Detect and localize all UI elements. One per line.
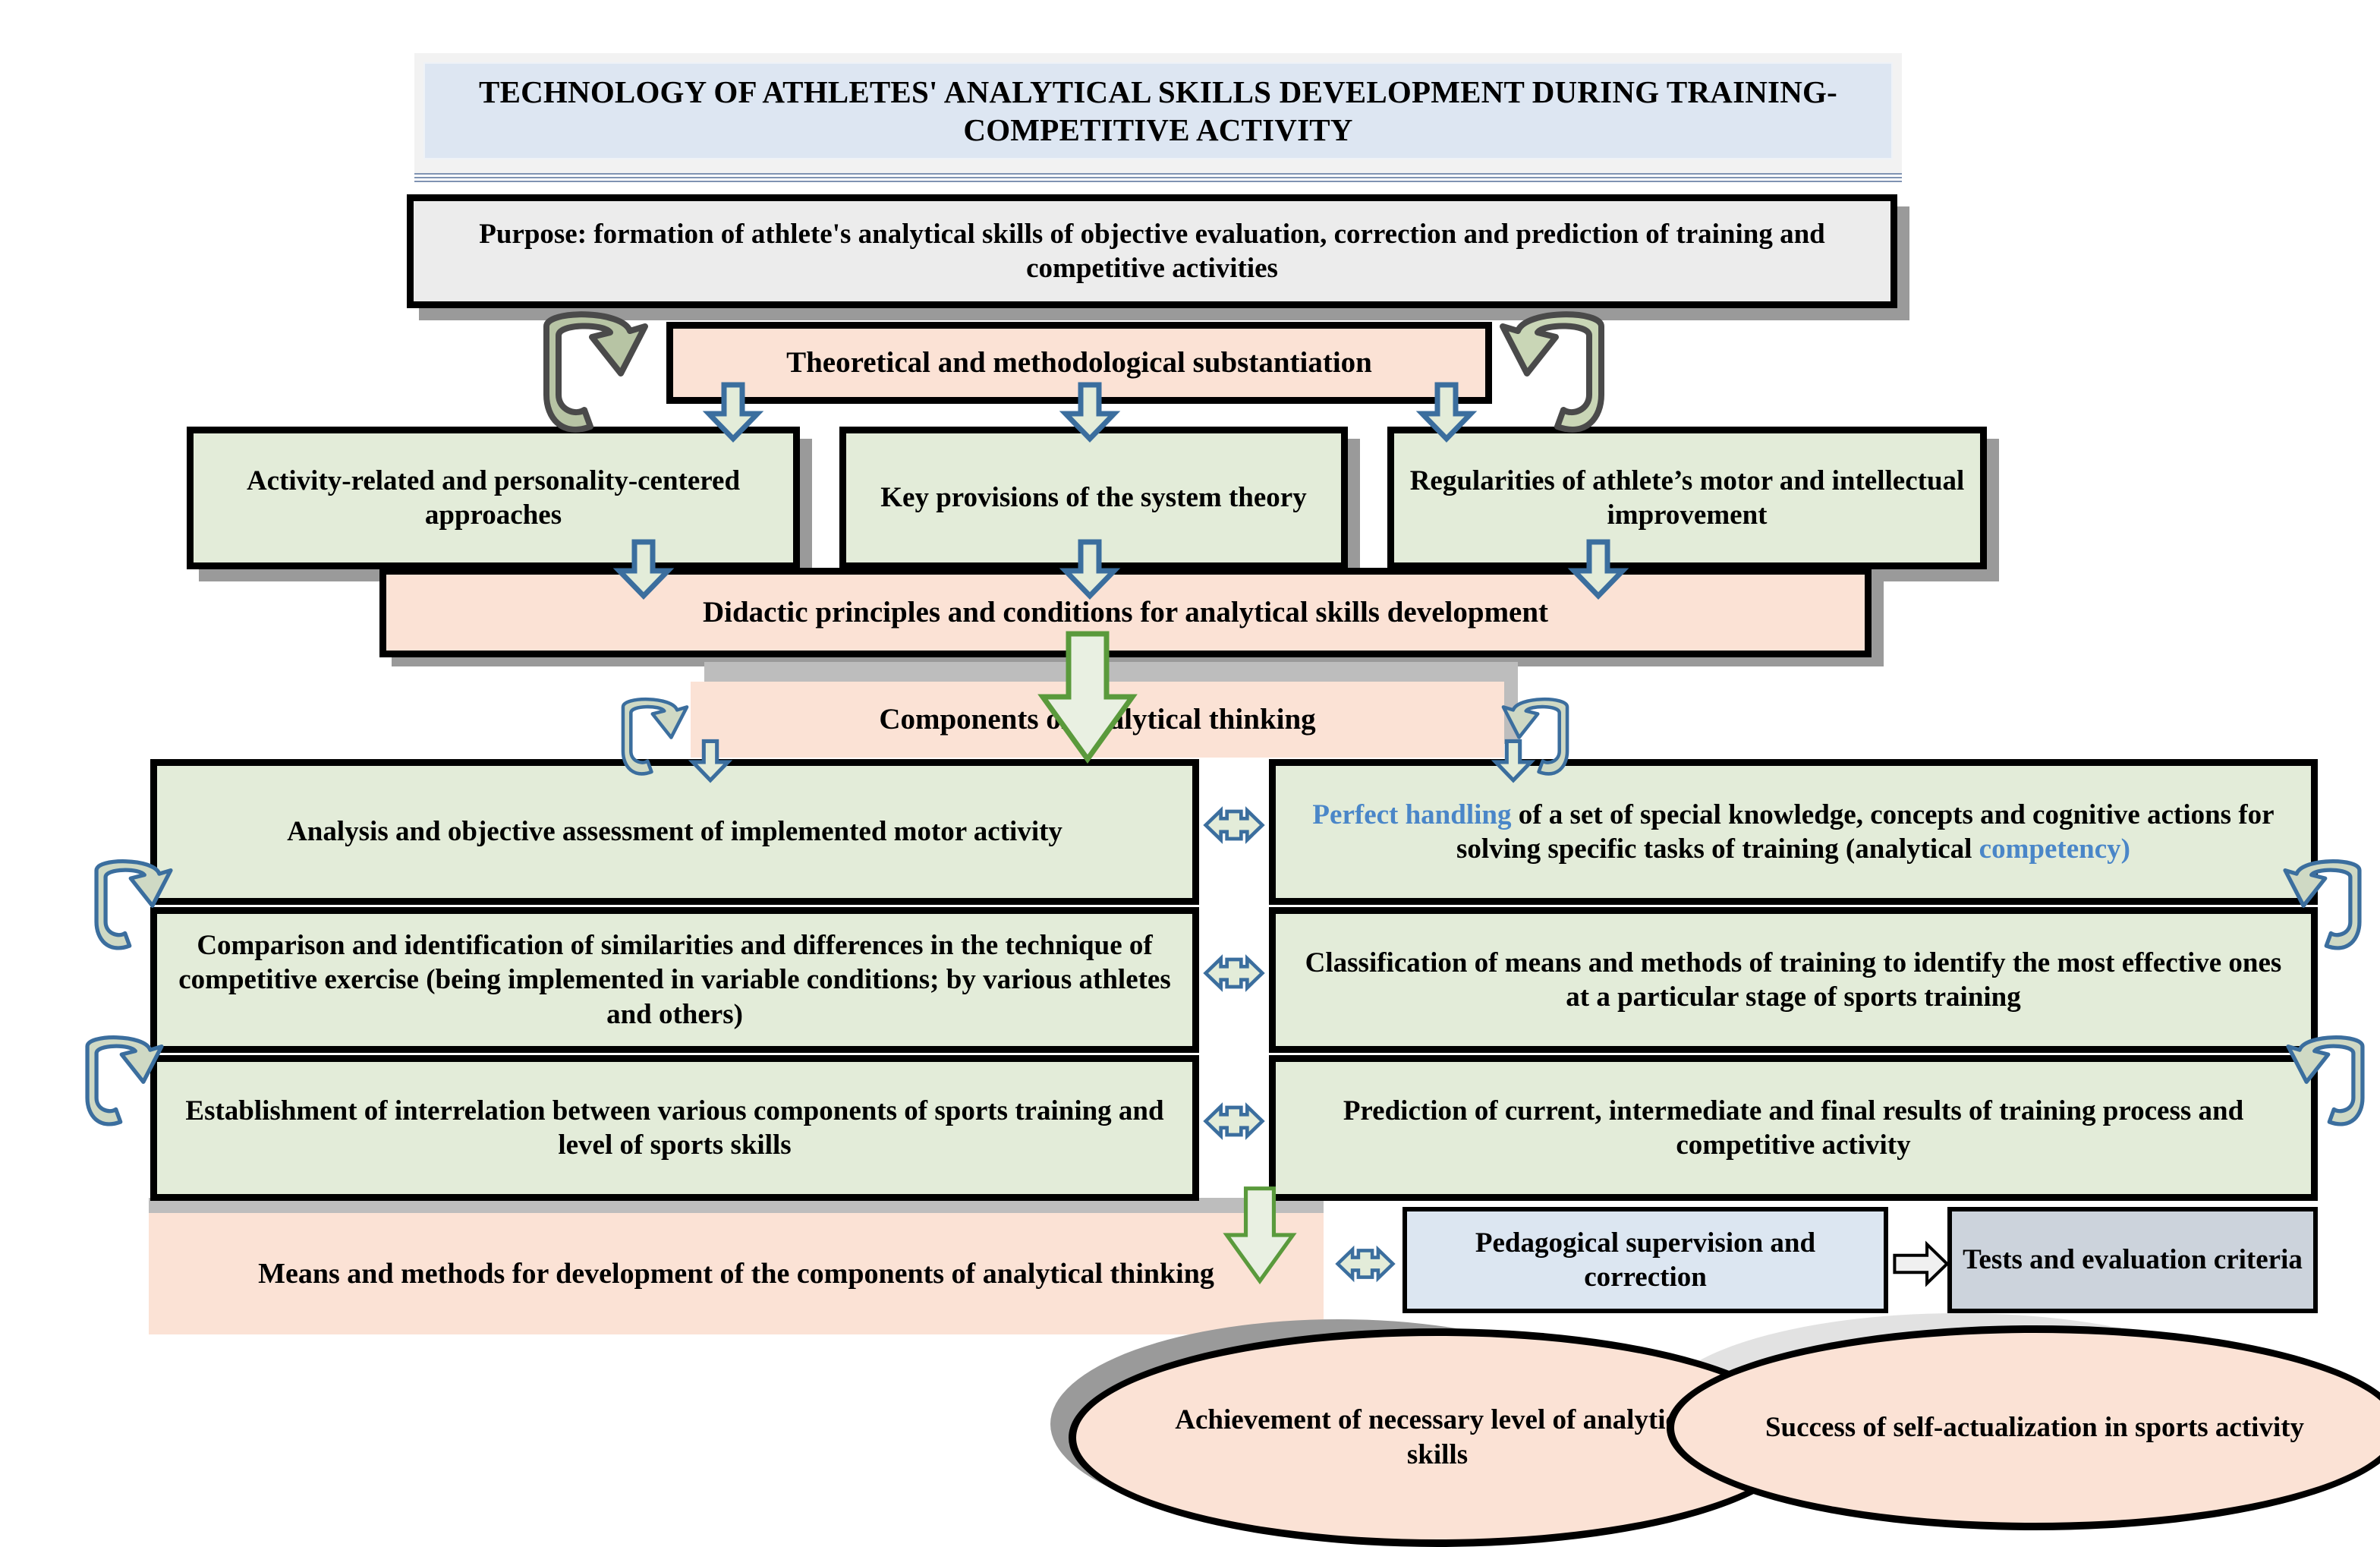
arrow-left-right-icon xyxy=(1336,1242,1395,1286)
big-arrow-down-icon xyxy=(1223,1178,1296,1292)
arrow-down-icon xyxy=(616,540,671,598)
tests-box: Tests and evaluation criteria xyxy=(1947,1207,2318,1313)
curved-refresh-arrow-icon xyxy=(1487,304,1617,433)
tests-text: Tests and evaluation criteria xyxy=(1963,1243,2303,1277)
curved-refresh-arrow-icon xyxy=(76,1029,173,1126)
foundation-label-2: Key provisions of the system theory xyxy=(880,480,1306,515)
component-label-right-1: Perfect handling of a set of special kno… xyxy=(1291,798,2296,866)
page-title: TECHNOLOGY OF ATHLETES' ANALYTICAL SKILL… xyxy=(423,62,1893,159)
outcome-ellipse-2: Success of self-actualization in sports … xyxy=(1667,1325,2380,1530)
component-label-right-2: Classification of means and methods of t… xyxy=(1291,946,2296,1014)
curved-refresh-arrow-icon xyxy=(2274,853,2371,950)
arrow-down-icon xyxy=(1419,383,1474,441)
purpose-text: Purpose: formation of athlete's analytic… xyxy=(433,217,1871,285)
arrow-down-icon xyxy=(1062,383,1117,441)
means-box: Means and methods for development of the… xyxy=(149,1213,1324,1334)
supervision-text: Pedagogical supervision and correction xyxy=(1418,1226,1873,1294)
component-box-right-3: Prediction of current, intermediate and … xyxy=(1269,1055,2318,1201)
arrow-down-icon xyxy=(683,740,738,782)
component-box-right-1: Perfect handling of a set of special kno… xyxy=(1269,759,2318,905)
foundation-box-3: Regularities of athlete’s motor and inte… xyxy=(1387,427,1987,569)
outcome-label-2: Success of self-actualization in sports … xyxy=(1765,1410,2304,1445)
foundation-label-1: Activity-related and personality-centere… xyxy=(207,464,779,532)
component-label-left-2: Comparison and identification of similar… xyxy=(172,928,1177,1031)
component-box-right-2: Classification of means and methods of t… xyxy=(1269,907,2318,1053)
big-arrow-down-icon xyxy=(1038,632,1137,762)
title-underline xyxy=(414,173,1902,184)
component-box-left-1: Analysis and objective assessment of imp… xyxy=(150,759,1199,905)
arrow-down-icon xyxy=(706,383,760,441)
page-title-text: TECHNOLOGY OF ATHLETES' ANALYTICAL SKILL… xyxy=(455,73,1861,149)
arrow-left-right-icon xyxy=(1204,951,1264,995)
arrow-down-icon xyxy=(1486,740,1541,782)
component-label-left-3: Establishment of interrelation between v… xyxy=(172,1094,1177,1162)
component-box-left-2: Comparison and identification of similar… xyxy=(150,907,1199,1053)
component-lead-highlight: Perfect handling xyxy=(1312,799,1511,830)
component-tail-highlight: competency) xyxy=(1979,833,2130,865)
purpose-box: Purpose: formation of athlete's analytic… xyxy=(407,194,1897,308)
foundation-label-3: Regularities of athlete’s motor and inte… xyxy=(1408,464,1966,532)
substantiation-text: Theoretical and methodological substanti… xyxy=(786,345,1372,381)
component-label-left-1: Analysis and objective assessment of imp… xyxy=(287,814,1062,849)
arrow-down-icon xyxy=(1062,540,1117,598)
component-body-text: of a set of special knowledge, concepts … xyxy=(1456,799,2275,865)
component-label-right-3: Prediction of current, intermediate and … xyxy=(1291,1094,2296,1162)
didactic-text: Didactic principles and conditions for a… xyxy=(703,594,1548,631)
outcome-label-1: Achievement of necessary level of analyt… xyxy=(1149,1403,1726,1473)
supervision-box: Pedagogical supervision and correction xyxy=(1402,1207,1888,1313)
arrow-right-icon xyxy=(1893,1242,1949,1286)
arrow-down-icon xyxy=(1571,540,1626,598)
arrow-left-right-icon xyxy=(1204,1099,1264,1143)
foundation-box-1: Activity-related and personality-centere… xyxy=(187,427,800,569)
curved-refresh-arrow-icon xyxy=(2277,1029,2374,1126)
curved-refresh-arrow-icon xyxy=(531,304,660,433)
component-box-left-3: Establishment of interrelation between v… xyxy=(150,1055,1199,1201)
arrow-left-right-icon xyxy=(1204,803,1264,847)
curved-refresh-arrow-icon xyxy=(85,853,182,950)
diagram-canvas: TECHNOLOGY OF ATHLETES' ANALYTICAL SKILL… xyxy=(0,0,2380,1530)
means-text: Means and methods for development of the… xyxy=(258,1256,1214,1291)
